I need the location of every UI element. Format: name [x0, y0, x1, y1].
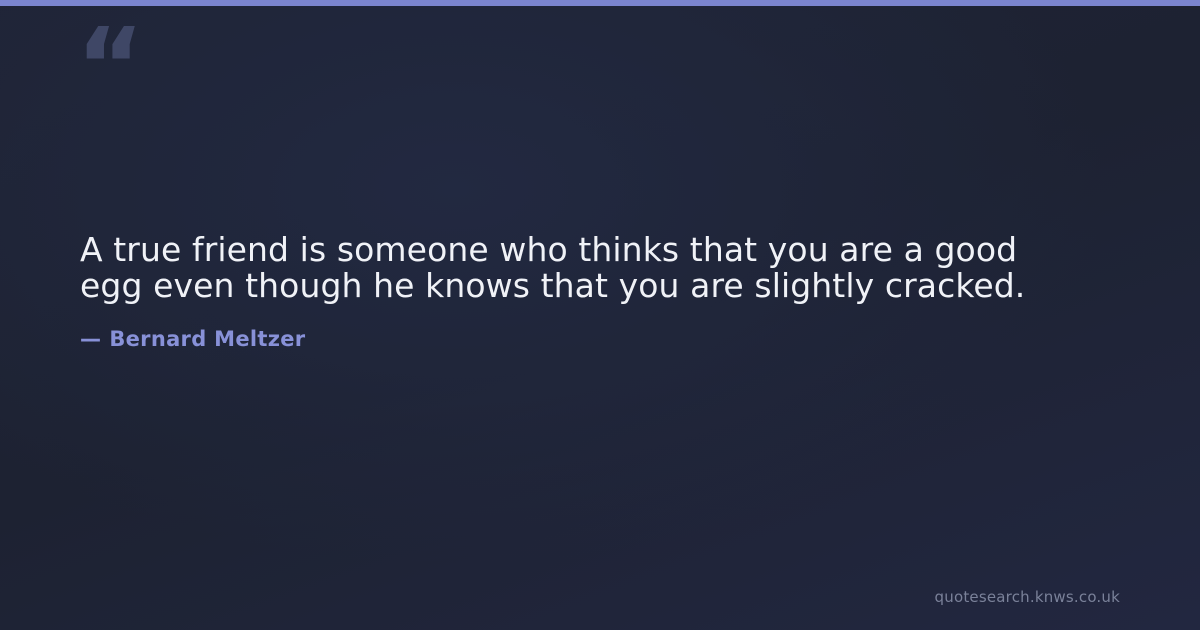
quote-text: A true friend is someone who thinks that… [80, 232, 1070, 304]
attribution-dash: — [80, 326, 109, 352]
opening-quote-icon: “ [76, 14, 142, 118]
quote-content: A true friend is someone who thinks that… [80, 232, 1080, 352]
quote-card: “ A true friend is someone who thinks th… [0, 0, 1200, 630]
quote-attribution: —Bernard Meltzer [80, 304, 1080, 352]
top-accent-bar [0, 0, 1200, 6]
attribution-author: Bernard Meltzer [109, 327, 305, 351]
site-watermark: quotesearch.knws.co.uk [935, 588, 1120, 606]
